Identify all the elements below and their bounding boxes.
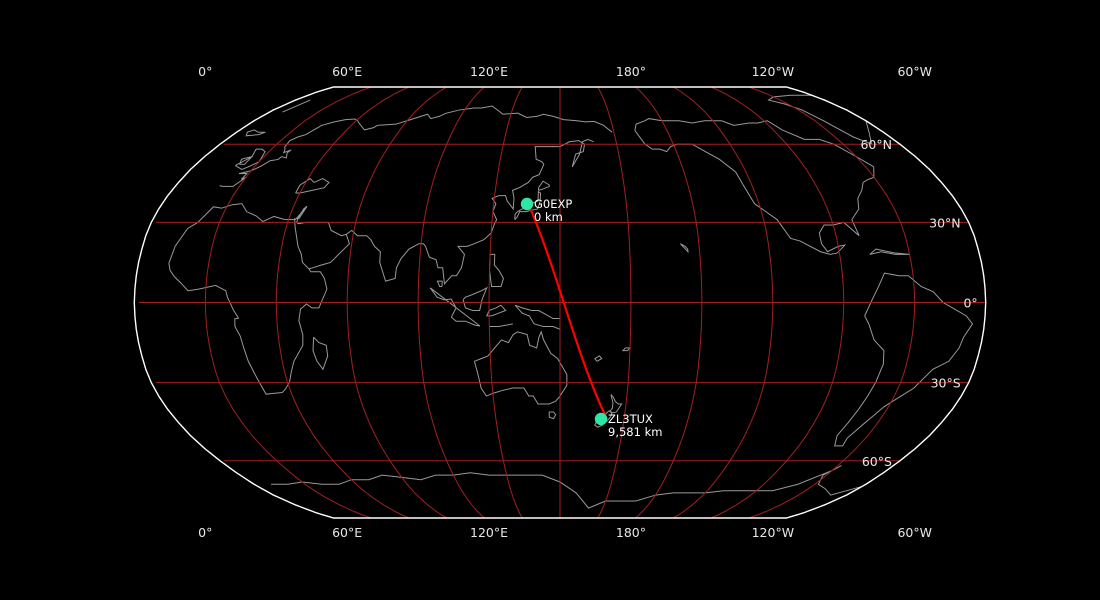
map-figure: Robinson Projection PM97 to RE66HO (156°… — [0, 0, 1100, 600]
lon-tick-bottom: 180° — [616, 525, 646, 540]
station-distance-label: 0 km — [534, 210, 563, 224]
lon-tick-bottom: 120°E — [470, 525, 508, 540]
lat-tick: 30°S — [931, 376, 961, 391]
lat-tick: 0° — [963, 296, 977, 311]
lon-tick-bottom: 120°W — [752, 525, 794, 540]
robinson-map[interactable]: G0EXP0 kmZL3TUX9,581 km 0°0°60°E60°E120°… — [0, 0, 1100, 600]
station-distance-label: 9,581 km — [608, 425, 662, 439]
lon-tick-top: 120°E — [470, 64, 508, 79]
lon-tick-top: 180° — [616, 64, 646, 79]
lon-tick-top: 60°E — [332, 64, 362, 79]
lon-tick-top: 60°W — [897, 64, 932, 79]
station-dot[interactable] — [595, 413, 607, 425]
station-callsign-label: ZL3TUX — [608, 412, 653, 426]
lon-tick-top: 0° — [198, 64, 212, 79]
lat-tick: 60°S — [862, 454, 892, 469]
lon-tick-bottom: 60°W — [897, 525, 932, 540]
lon-tick-bottom: 0° — [198, 525, 212, 540]
station-callsign-label: G0EXP — [534, 197, 572, 211]
map-background — [0, 0, 1100, 600]
lon-tick-top: 120°W — [752, 64, 794, 79]
lat-tick: 30°N — [929, 215, 961, 230]
station-dot[interactable] — [521, 198, 533, 210]
lat-tick: 60°N — [860, 137, 892, 152]
lon-tick-bottom: 60°E — [332, 525, 362, 540]
